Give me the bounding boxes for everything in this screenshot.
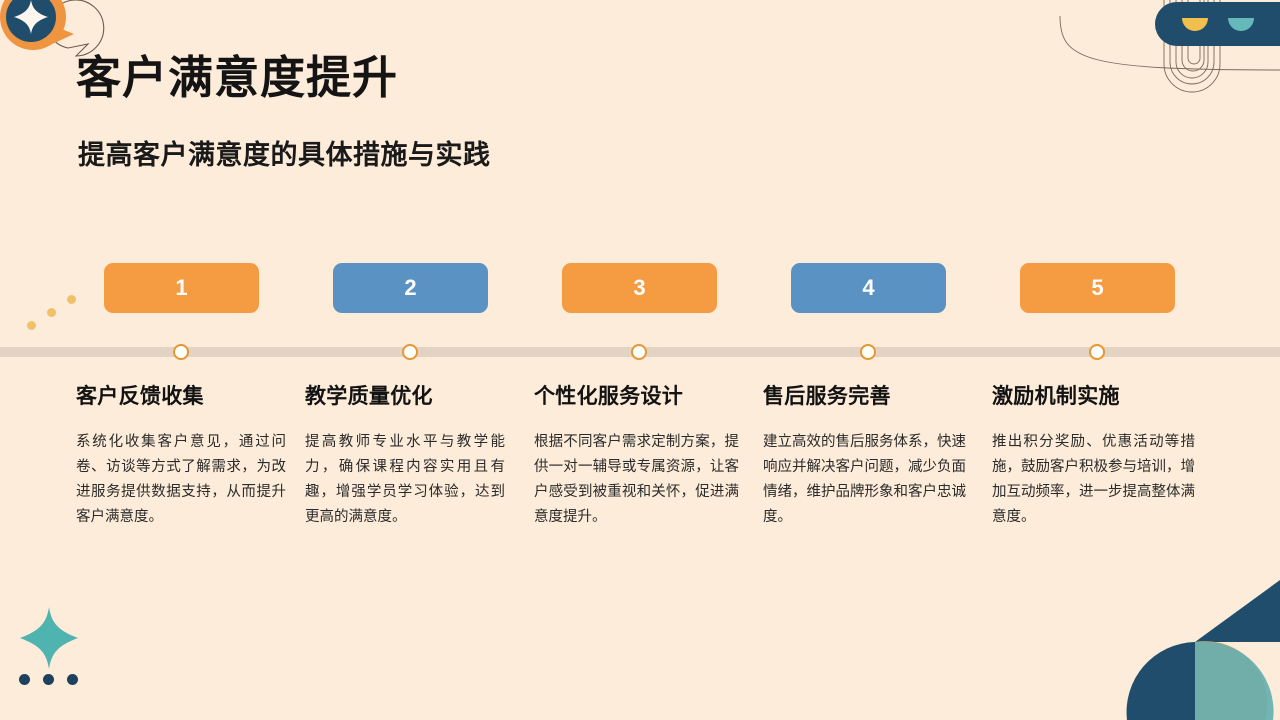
timeline-marker-3[interactable]: [631, 344, 647, 360]
slide-canvas: 客户满意度提升 提高客户满意度的具体措施与实践 1 2 3 4 5 客户反馈收集…: [0, 0, 1280, 720]
step-number-label: 3: [633, 275, 645, 301]
navy-dot: [43, 674, 54, 685]
step-number-box-2[interactable]: 2: [333, 263, 488, 313]
teal-star-icon: [20, 607, 78, 669]
step-heading: 售后服务完善: [763, 380, 966, 410]
navy-capsule-shape: [1155, 2, 1280, 46]
step-body: 建立高效的售后服务体系，快速响应并解决客户问题，减少负面情绪，维护品牌形象和客户…: [763, 430, 966, 530]
step-column-3: 个性化服务设计 根据不同客户需求定制方案，提供一对一辅导或专属资源，让客户感受到…: [534, 380, 739, 530]
step-number-box-1[interactable]: 1: [104, 263, 259, 313]
timeline-marker-5[interactable]: [1089, 344, 1105, 360]
timeline-marker-1[interactable]: [173, 344, 189, 360]
timeline-marker-2[interactable]: [402, 344, 418, 360]
step-body: 提高教师专业水平与教学能力，确保课程内容实用且有趣，增强学员学习体验，达到更高的…: [305, 430, 505, 530]
step-body: 推出积分奖励、优惠活动等措施，鼓励客户积极参与培训，增加互动频率，进一步提高整体…: [992, 430, 1195, 530]
step-column-4: 售后服务完善 建立高效的售后服务体系，快速响应并解决客户问题，减少负面情绪，维护…: [763, 380, 966, 530]
step-number-box-3[interactable]: 3: [562, 263, 717, 313]
step-column-5: 激励机制实施 推出积分奖励、优惠活动等措施，鼓励客户积极参与培训，增加互动频率，…: [992, 380, 1195, 530]
yellow-dot: [67, 295, 76, 304]
step-body: 系统化收集客户意见，通过问卷、访谈等方式了解需求，为改进服务提供数据支持，从而提…: [76, 430, 286, 530]
step-body: 根据不同客户需求定制方案，提供一对一辅导或专属资源，让客户感受到被重视和关怀，促…: [534, 430, 739, 530]
yellow-dot: [27, 321, 36, 330]
bottom-right-decoration: [1105, 580, 1280, 720]
step-column-1: 客户反馈收集 系统化收集客户意见，通过问卷、访谈等方式了解需求，为改进服务提供数…: [76, 380, 286, 530]
step-number-label: 1: [175, 275, 187, 301]
step-number-box-5[interactable]: 5: [1020, 263, 1175, 313]
step-number-label: 2: [404, 275, 416, 301]
timeline-marker-4[interactable]: [860, 344, 876, 360]
step-heading: 客户反馈收集: [76, 380, 286, 410]
step-column-2: 教学质量优化 提高教师专业水平与教学能力，确保课程内容实用且有趣，增强学员学习体…: [305, 380, 505, 530]
navy-dot: [67, 674, 78, 685]
bottom-right-shapes-icon: [1105, 580, 1280, 720]
step-number-label: 4: [862, 275, 874, 301]
step-number-label: 5: [1091, 275, 1103, 301]
step-heading: 激励机制实施: [992, 380, 1195, 410]
step-number-box-4[interactable]: 4: [791, 263, 946, 313]
page-subtitle: 提高客户满意度的具体措施与实践: [78, 133, 491, 172]
yellow-dot: [47, 308, 56, 317]
white-star-icon: [14, 0, 48, 34]
step-heading: 教学质量优化: [305, 380, 505, 410]
navy-dot: [19, 674, 30, 685]
page-title: 客户满意度提升: [76, 41, 398, 106]
step-heading: 个性化服务设计: [534, 380, 739, 410]
